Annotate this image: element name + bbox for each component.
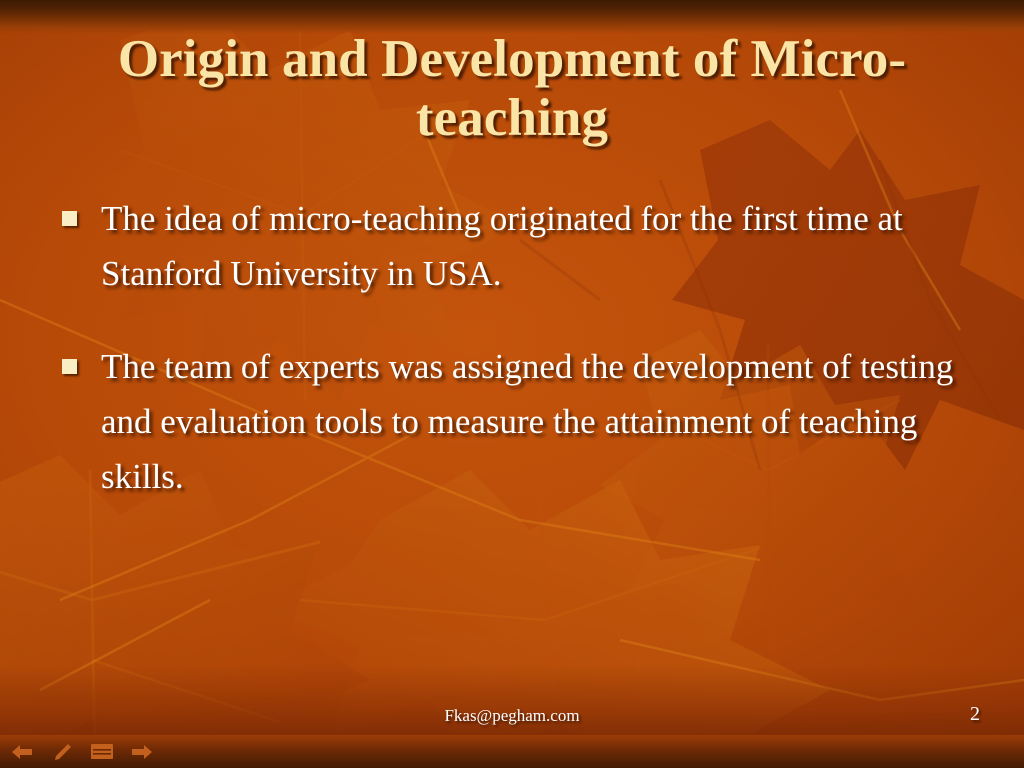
- slideshow-navigation-bar: [0, 735, 1024, 768]
- bullet-text: The idea of micro-teaching originated fo…: [101, 192, 972, 302]
- next-arrow-icon[interactable]: [130, 742, 154, 762]
- slide-page-number: 2: [970, 703, 980, 726]
- square-bullet-icon: [62, 211, 77, 226]
- bullet-item: The team of experts was assigned the dev…: [62, 340, 972, 505]
- previous-arrow-icon[interactable]: [10, 742, 34, 762]
- square-bullet-icon: [62, 359, 77, 374]
- presentation-slide: Origin and Development of Micro-teaching…: [0, 0, 1024, 768]
- top-vignette: [0, 0, 1024, 34]
- slide-menu-icon[interactable]: [90, 742, 114, 762]
- footer-email: Fkas@pegham.com: [0, 706, 1024, 726]
- pen-icon[interactable]: [50, 742, 74, 762]
- bullet-text: The team of experts was assigned the dev…: [101, 340, 972, 505]
- bullet-item: The idea of micro-teaching originated fo…: [62, 192, 972, 302]
- slide-body: The idea of micro-teaching originated fo…: [62, 192, 972, 543]
- slide-title: Origin and Development of Micro-teaching: [54, 30, 970, 149]
